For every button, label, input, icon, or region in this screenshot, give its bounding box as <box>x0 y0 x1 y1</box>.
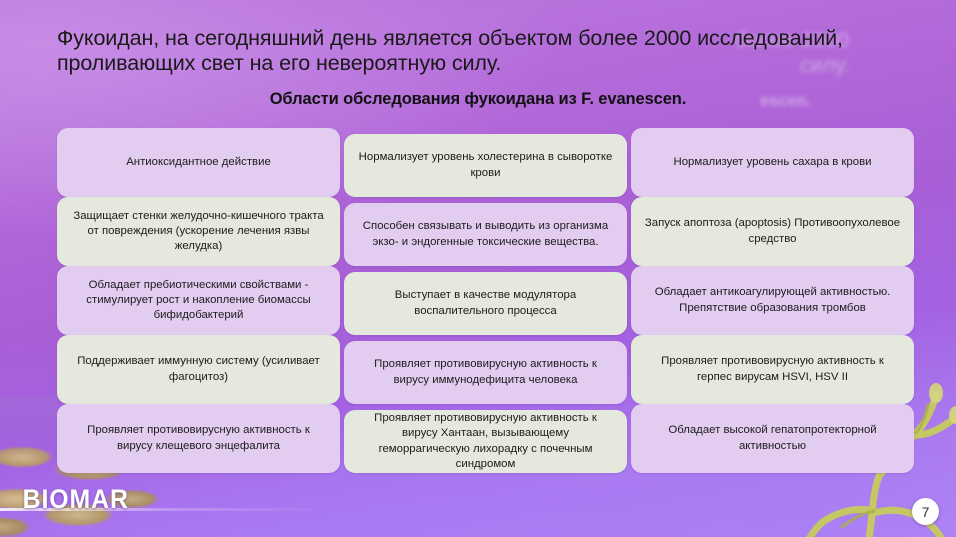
page-subtitle: Области обследования фукоидана из F. eva… <box>0 90 956 109</box>
benefit-cell: Выступает в качестве модулятора воспалит… <box>344 272 627 335</box>
slide-canvas: более 2000 силу. escen. Фукоидан, на сег… <box>0 0 956 537</box>
benefit-cell: Защищает стенки желудочно-кишечного трак… <box>57 197 340 266</box>
page-title: Фукоидан, на сегодняшний день является о… <box>57 26 917 76</box>
benefit-cell: Проявляет противовирусную активность к в… <box>344 410 627 473</box>
benefit-cell: Обладает антикоагулирующей активностью. … <box>631 266 914 335</box>
benefit-cell: Обладает высокой гепатопротекторной акти… <box>631 404 914 473</box>
benefit-cell: Обладает пребиотическими свойствами - ст… <box>57 266 340 335</box>
page-number-badge: 7 <box>912 498 939 525</box>
benefits-grid: Антиоксидантное действиеНормализует уров… <box>57 128 901 473</box>
benefit-cell: Проявляет противовирусную активность к в… <box>57 404 340 473</box>
benefit-cell: Запуск апоптоза (apoptosis) Противоопухо… <box>631 197 914 266</box>
benefit-cell: Проявляет противовирусную активность к г… <box>631 335 914 404</box>
brand-logo-text: BIOMAR <box>23 484 129 515</box>
benefit-cell: Нормализует уровень сахара в крови <box>631 128 914 197</box>
benefit-cell: Нормализует уровень холестерина в сыворо… <box>344 134 627 197</box>
benefit-cell: Проявляет противовирусную активность к в… <box>344 341 627 404</box>
page-number-value: 7 <box>922 504 930 520</box>
brand-logo: BIOMAR <box>18 484 134 515</box>
benefit-cell: Способен связывать и выводить из организ… <box>344 203 627 266</box>
benefit-cell: Поддерживает иммунную систему (усиливает… <box>57 335 340 404</box>
benefit-cell: Антиоксидантное действие <box>57 128 340 197</box>
